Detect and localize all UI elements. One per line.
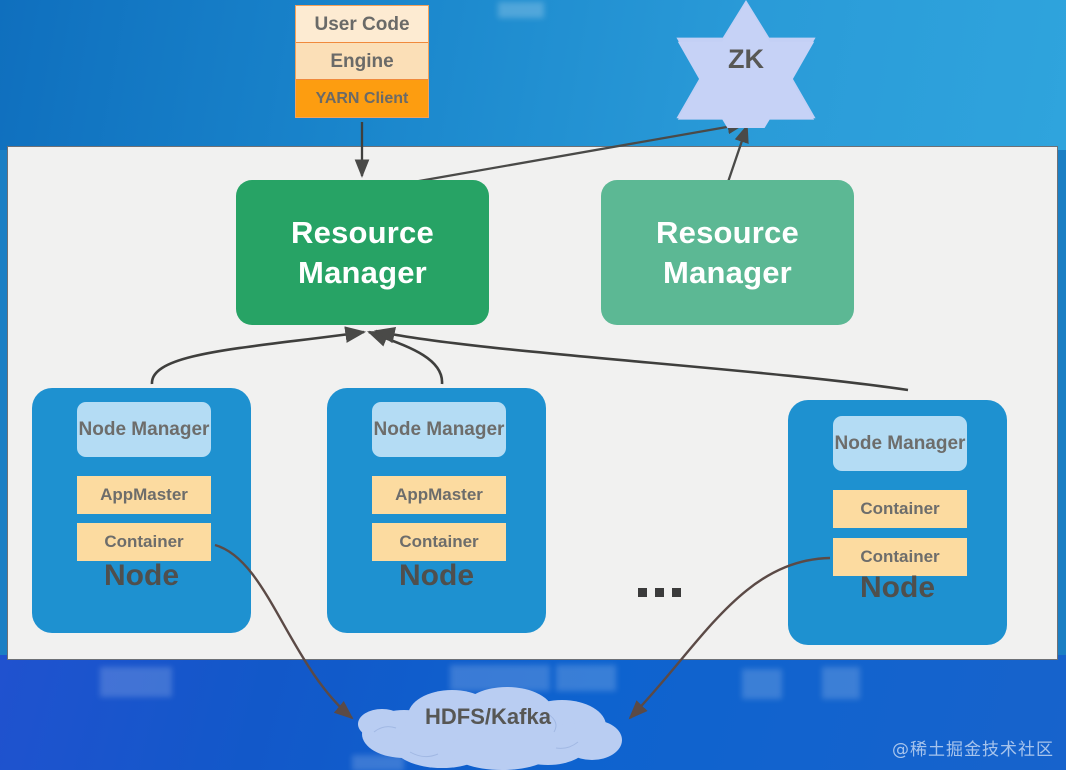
ellipsis-more-nodes — [638, 588, 681, 597]
arrow-node3-to-rm — [376, 331, 908, 390]
node-3-label: Node — [788, 568, 1007, 608]
node-1-label: Node — [32, 556, 251, 596]
zookeeper-label: ZK — [672, 44, 820, 75]
resource-manager-standby[interactable]: Resource Manager — [601, 180, 854, 325]
node-3[interactable]: Node Manager Container Container Node — [788, 400, 1007, 645]
resource-manager-standby-label: Resource Manager — [601, 213, 854, 292]
node-3-slot-container-1[interactable]: Container — [833, 490, 967, 528]
watermark: @稀土掘金技术社区 — [892, 735, 1054, 760]
node-2[interactable]: Node Manager AppMaster Container Node — [327, 388, 546, 633]
node-1-node-manager[interactable]: Node Manager — [77, 402, 211, 457]
ellipsis-dot — [672, 588, 681, 597]
resource-manager-active[interactable]: Resource Manager — [236, 180, 489, 325]
resource-manager-active-label: Resource Manager — [236, 213, 489, 292]
arrow-node1-to-rm — [152, 332, 364, 384]
client-row-user-code[interactable]: User Code — [296, 6, 428, 43]
node-1-slot-appmaster[interactable]: AppMaster — [77, 476, 211, 514]
storage-cloud-label: HDFS/Kafka — [352, 704, 624, 730]
storage-cloud[interactable]: HDFS/Kafka — [352, 686, 624, 770]
zookeeper-node[interactable]: ZK — [672, 0, 820, 128]
node-2-node-manager[interactable]: Node Manager — [372, 402, 506, 457]
diagram-canvas: User Code Engine YARN Client ZK Resource… — [0, 0, 1066, 770]
ellipsis-dot — [655, 588, 664, 597]
node-1[interactable]: Node Manager AppMaster Container Node — [32, 388, 251, 633]
connector-layer — [0, 0, 1066, 770]
node-2-slot-appmaster[interactable]: AppMaster — [372, 476, 506, 514]
node-2-label: Node — [327, 556, 546, 596]
client-row-engine[interactable]: Engine — [296, 43, 428, 80]
arrow-rm-standby-to-zk — [728, 126, 747, 182]
client-row-yarn-client[interactable]: YARN Client — [296, 80, 428, 117]
node-3-node-manager[interactable]: Node Manager — [833, 416, 967, 471]
client-stack: User Code Engine YARN Client — [295, 5, 429, 118]
ellipsis-dot — [638, 588, 647, 597]
